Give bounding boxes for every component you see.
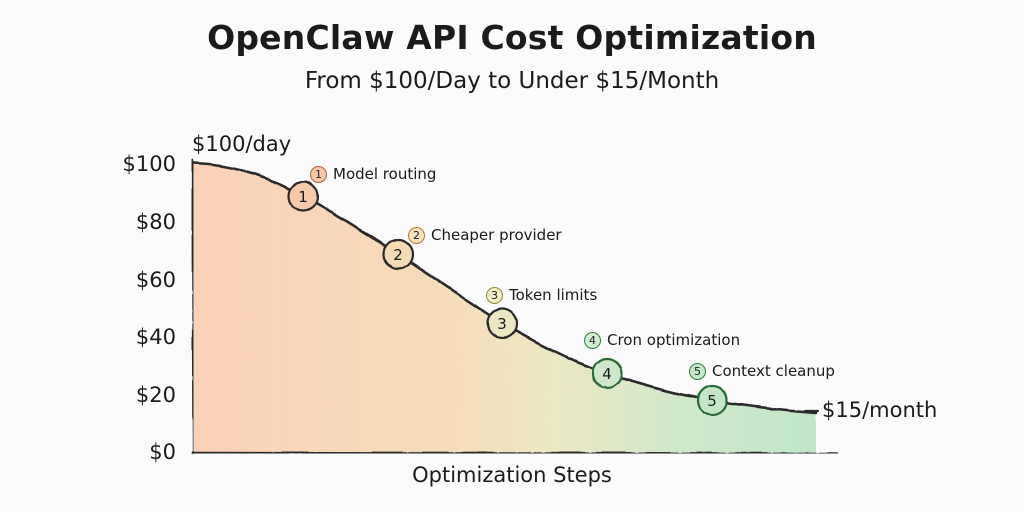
y-axis-line xyxy=(192,160,193,452)
step-marker-1-number: 1 xyxy=(298,188,308,206)
step-callout-3-label: Token limits xyxy=(509,286,597,304)
step-callout-4-label: Cron optimization xyxy=(607,331,740,349)
step-marker-1[interactable]: 1 xyxy=(289,182,318,211)
step-callout-1-label: Model routing xyxy=(333,165,436,183)
step-marker-2-number: 2 xyxy=(393,246,403,264)
step-callout-4-badge: 4 xyxy=(584,332,601,349)
start-value-annotation: $100/day xyxy=(192,132,291,156)
x-axis-label: Optimization Steps xyxy=(0,463,1024,487)
step-callout-1[interactable]: 1 Model routing xyxy=(310,165,436,183)
x-axis-line xyxy=(192,452,836,453)
step-marker-3[interactable]: 3 xyxy=(488,309,517,338)
y-tick-label-20: $20 xyxy=(86,383,176,407)
y-tick-label-60: $60 xyxy=(86,268,176,292)
step-callout-2[interactable]: 2 Cheaper provider xyxy=(408,226,562,244)
step-callout-1-badge: 1 xyxy=(310,166,327,183)
chart-canvas: OpenClaw API Cost Optimization From $100… xyxy=(0,0,1024,512)
step-callout-2-label: Cheaper provider xyxy=(431,226,562,244)
step-marker-5-number: 5 xyxy=(707,392,717,410)
end-value-annotation: $15/month xyxy=(822,398,937,422)
step-marker-4[interactable]: 4 xyxy=(593,359,622,388)
step-callout-5-label: Context cleanup xyxy=(712,362,835,380)
step-callout-5[interactable]: 5 Context cleanup xyxy=(689,362,835,380)
step-callout-4[interactable]: 4 Cron optimization xyxy=(584,331,740,349)
step-marker-4-number: 4 xyxy=(602,365,612,383)
step-marker-3-number: 3 xyxy=(497,315,507,333)
step-callout-5-badge: 5 xyxy=(689,363,706,380)
step-callout-3[interactable]: 3 Token limits xyxy=(486,286,597,304)
step-marker-5[interactable]: 5 xyxy=(698,386,727,415)
cost-decay-area-chart: 1 2 3 4 5 xyxy=(0,0,1024,512)
step-callout-2-badge: 2 xyxy=(408,227,425,244)
y-tick-label-100: $100 xyxy=(86,152,176,176)
y-tick-label-80: $80 xyxy=(86,210,176,234)
step-callout-3-badge: 3 xyxy=(486,287,503,304)
y-tick-label-40: $40 xyxy=(86,325,176,349)
y-tick-label-0: $0 xyxy=(86,440,176,464)
